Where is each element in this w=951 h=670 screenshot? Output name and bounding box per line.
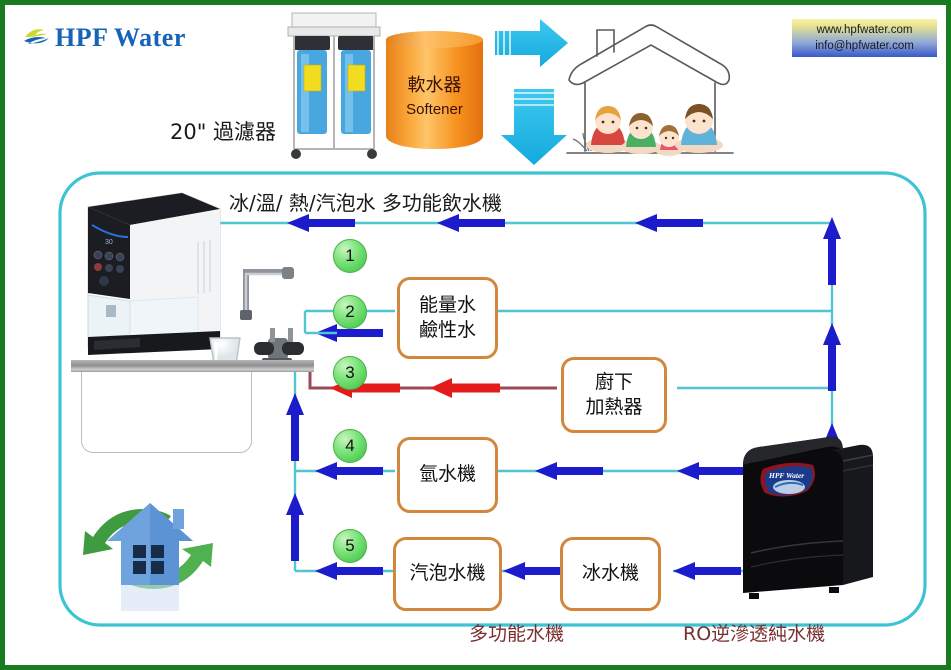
chrome-3way-faucet-icon <box>210 267 304 364</box>
family-illustration <box>586 104 723 156</box>
diagram-canvas: 30 <box>0 0 951 670</box>
page-title: 冰/溫/ 熱/汽泡水 多功能飲水機 <box>229 187 502 216</box>
green-recycle-house-icon <box>83 503 213 611</box>
box-energy-water-line2: 鹼性水 <box>419 318 476 343</box>
box-ice-water: 冰水機 <box>560 537 661 611</box>
box-heater-line2: 加熱器 <box>585 395 642 420</box>
filter-label: 20" 過濾器 <box>170 116 276 146</box>
dual-filter-housing-icon <box>288 13 380 159</box>
box-hydrogen-water: 氫水機 <box>397 437 498 513</box>
softener-label-en: Softener <box>386 101 483 118</box>
step-marker-1: 1 <box>333 239 367 273</box>
cyan-arrow-down-icon <box>501 89 567 165</box>
wave-swoosh-icon <box>23 25 53 51</box>
black-ro-purifier-icon: HPF Water <box>743 437 873 599</box>
cyan-pipe-lines <box>201 223 832 571</box>
sink-basin <box>81 372 252 453</box>
box-heater-line1: 廚下 <box>595 370 633 395</box>
step-marker-3: 3 <box>333 356 367 390</box>
logo-text: HPF Water <box>55 25 186 51</box>
website-text: www.hpfwater.com <box>817 22 913 38</box>
box-energy-water: 能量水 鹼性水 <box>397 277 498 359</box>
step-marker-2: 2 <box>333 295 367 329</box>
brand-logo: HPF Water <box>23 25 186 51</box>
svg-text:HPF Water: HPF Water <box>768 471 804 480</box>
softener-tank: 軟水器 Softener <box>386 31 483 156</box>
box-sparkling-line1: 汽泡水機 <box>409 561 485 586</box>
cyan-arrow-right-icon <box>495 19 568 67</box>
countertop-water-dispenser-icon: 30 <box>88 193 220 355</box>
box-under-sink-heater: 廚下 加熱器 <box>561 357 667 433</box>
softener-label-cjk: 軟水器 <box>386 71 483 97</box>
caption-multifunction: 多功能水機 <box>469 619 564 646</box>
countertop <box>71 360 314 372</box>
contact-info-box: www.hpfwater.com info@hpfwater.com <box>792 19 937 57</box>
sketched-house-with-family-icon <box>567 25 733 156</box>
email-text: info@hpfwater.com <box>815 38 914 54</box>
box-ice-line1: 冰水機 <box>582 561 639 586</box>
caption-ro: RO逆滲透純水機 <box>683 619 825 646</box>
step-marker-5: 5 <box>333 529 367 563</box>
box-energy-water-line1: 能量水 <box>419 293 476 318</box>
svg-text:30: 30 <box>105 239 113 246</box>
step-marker-4: 4 <box>333 429 367 463</box>
box-hydrogen-line1: 氫水機 <box>419 462 476 487</box>
box-sparkling-water: 汽泡水機 <box>393 537 502 611</box>
